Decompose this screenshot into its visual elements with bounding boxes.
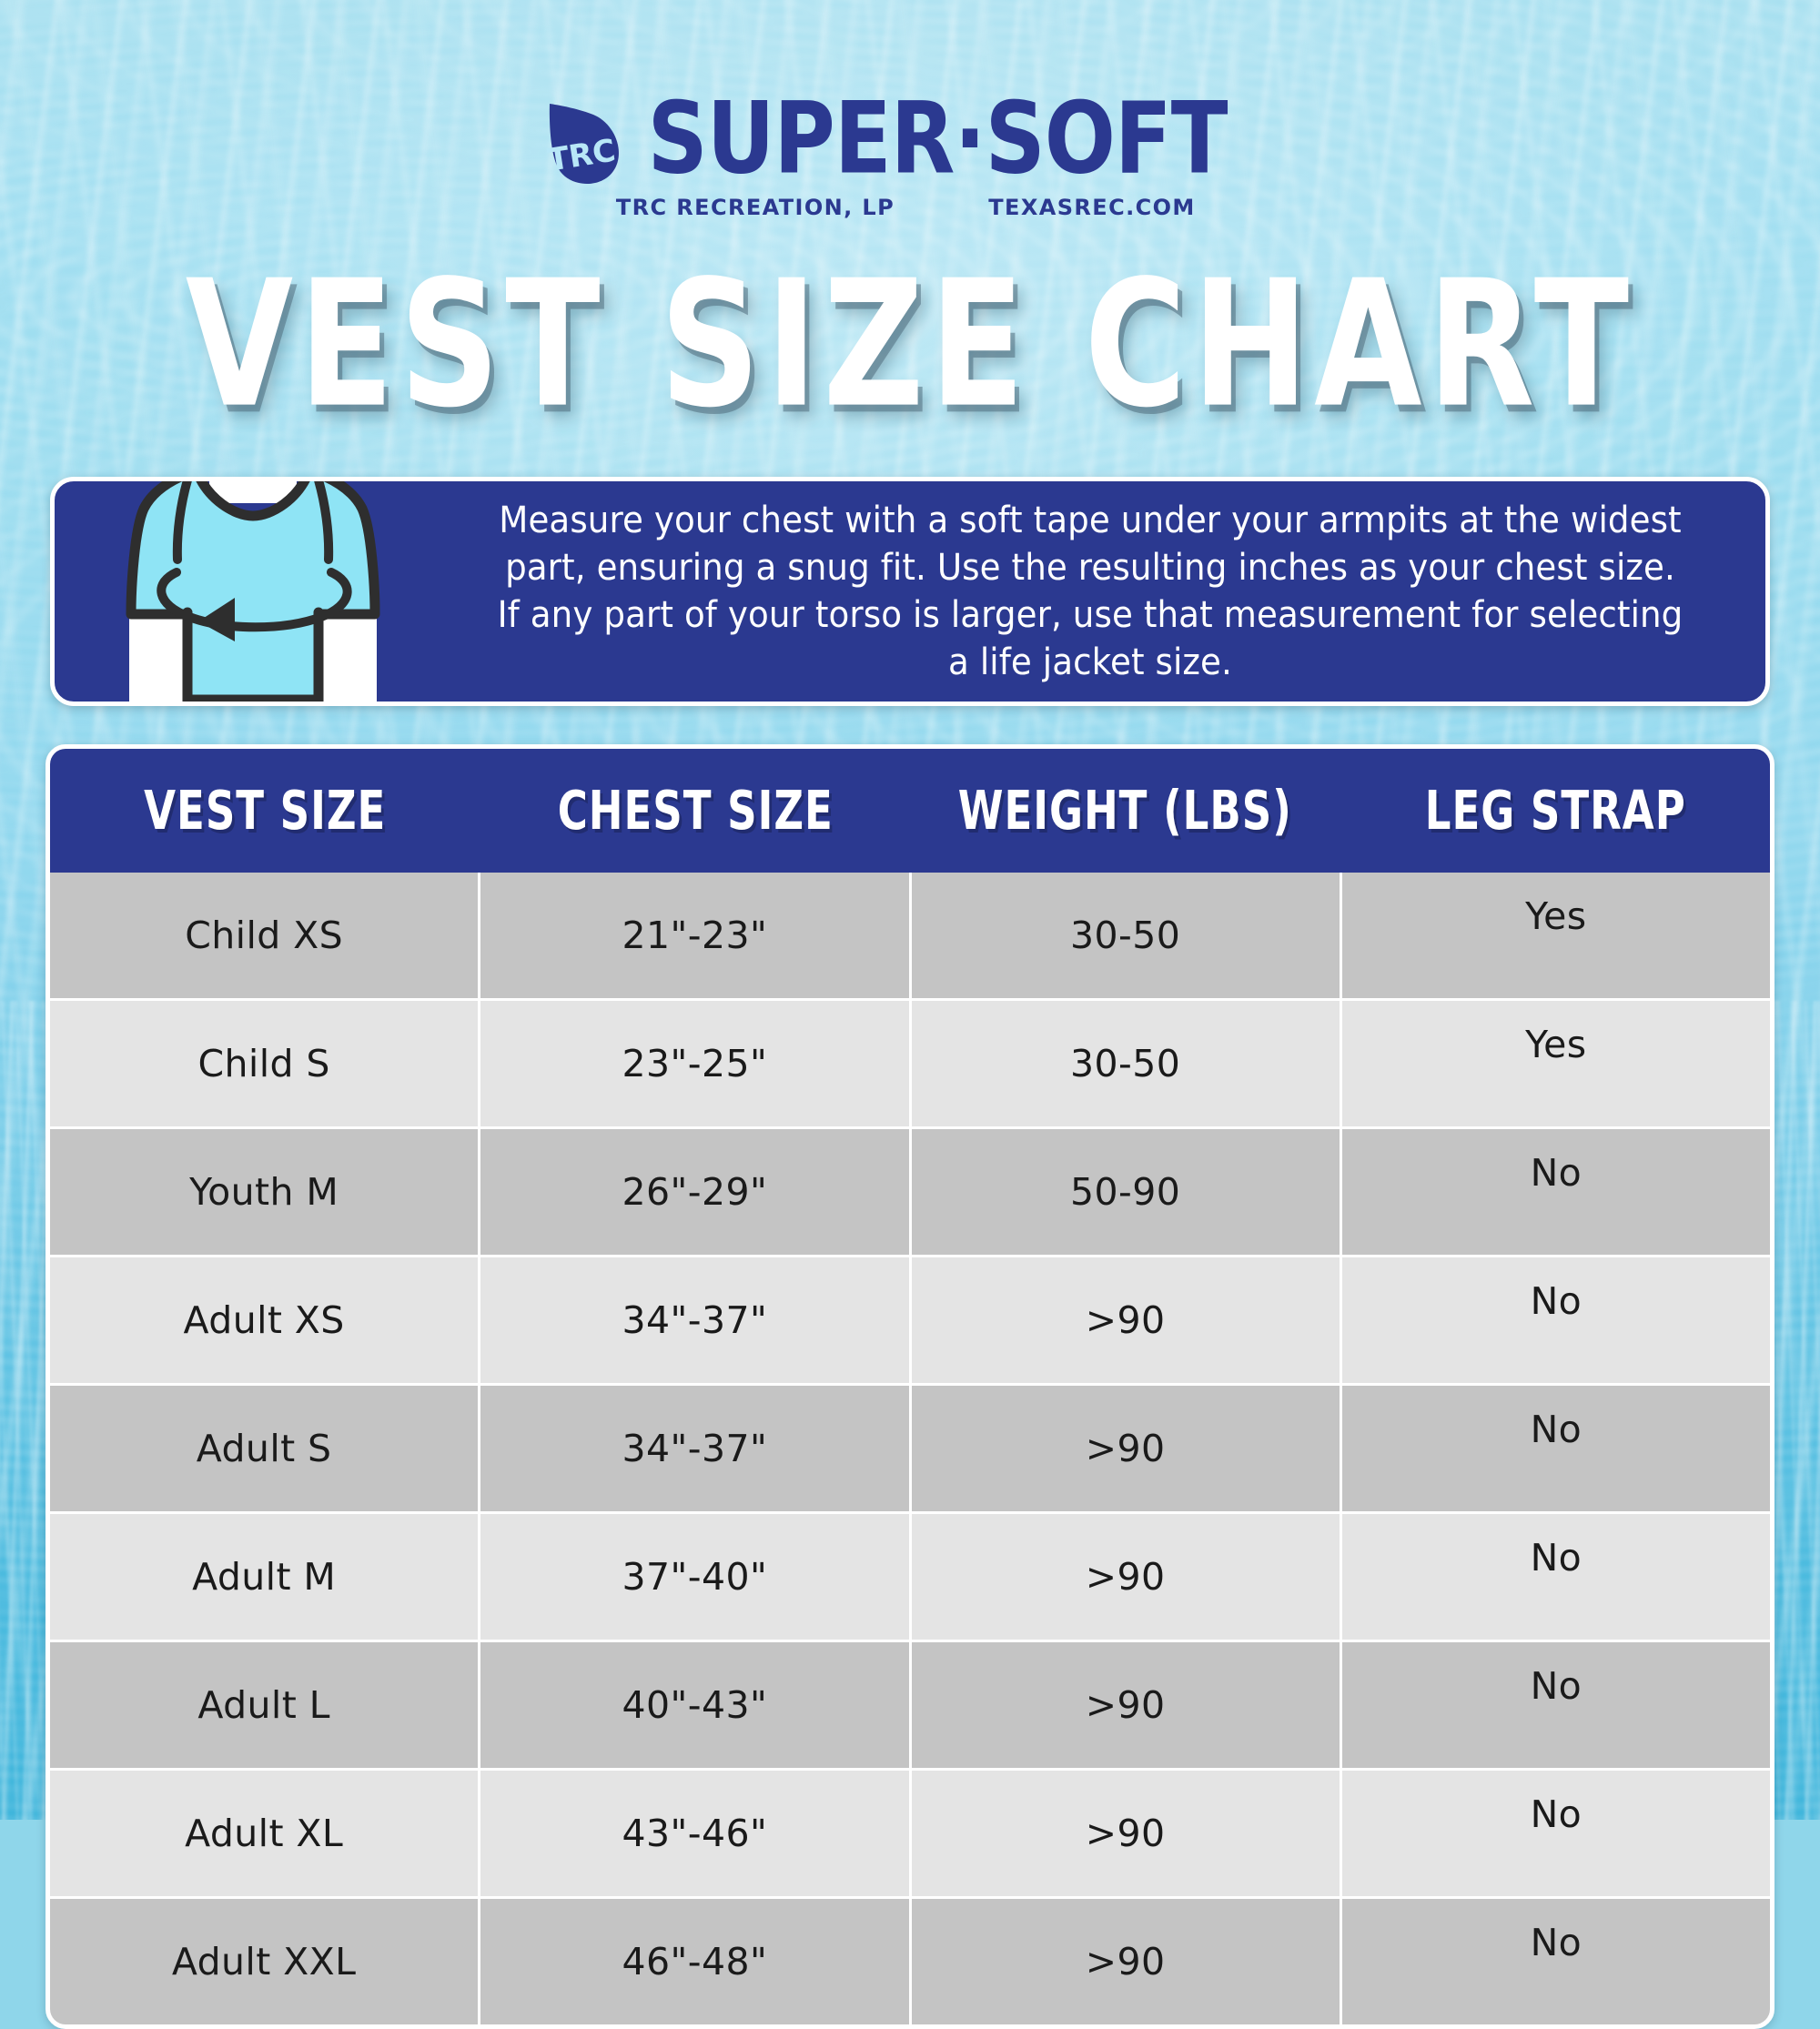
table-body: Child XS21"-23"30-50YesChild S23"-25"30-…	[50, 873, 1770, 2024]
instruction-panel: Measure your chest with a soft tape unde…	[50, 477, 1770, 706]
cell-chest-size: 23"-25"	[480, 1001, 911, 1126]
table-row: Adult XS34"-37">90No	[50, 1255, 1770, 1383]
table-row: Adult L40"-43">90No	[50, 1640, 1770, 1768]
cell-leg-strap: No	[1342, 1129, 1770, 1255]
cell-vest-size: Child S	[50, 1001, 480, 1126]
cell-weight: >90	[912, 1514, 1342, 1640]
column-header-leg-strap: LEG STRAP	[1349, 779, 1762, 842]
vest-size-table: VEST SIZE CHEST SIZE WEIGHT (LBS) LEG ST…	[45, 744, 1774, 2029]
cell-vest-size: Adult M	[50, 1514, 480, 1640]
column-header-vest-size: VEST SIZE	[58, 779, 471, 842]
torso-measuring-illustration	[55, 481, 446, 702]
cell-chest-size: 21"-23"	[480, 873, 911, 998]
cell-weight: >90	[912, 1771, 1342, 1896]
cell-vest-size: Adult XXL	[50, 1899, 480, 2024]
cell-weight: 30-50	[912, 1001, 1342, 1126]
cell-leg-strap: No	[1342, 1899, 1770, 2024]
table-row: Youth M26"-29"50-90No	[50, 1126, 1770, 1255]
table-row: Adult S34"-37">90No	[50, 1383, 1770, 1511]
table-header-row: VEST SIZE CHEST SIZE WEIGHT (LBS) LEG ST…	[50, 749, 1770, 873]
cell-weight: >90	[912, 1386, 1342, 1511]
instruction-text: Measure your chest with a soft tape unde…	[491, 497, 1690, 686]
table-row: Adult M37"-40">90No	[50, 1511, 1770, 1640]
column-header-weight-lbs: WEIGHT (LBS)	[918, 779, 1331, 842]
cell-chest-size: 37"-40"	[480, 1514, 911, 1640]
cell-chest-size: 43"-46"	[480, 1771, 911, 1896]
trc-droplet-icon: TRC	[545, 104, 619, 184]
cell-vest-size: Child XS	[50, 873, 480, 998]
cell-leg-strap: No	[1342, 1514, 1770, 1640]
cell-vest-size: Adult XL	[50, 1771, 480, 1896]
svg-text:SUPER·SOFT: SUPER·SOFT	[647, 98, 1228, 196]
cell-chest-size: 46"-48"	[480, 1899, 911, 2024]
cell-chest-size: 40"-43"	[480, 1642, 911, 1768]
table-row: Child XS21"-23"30-50Yes	[50, 873, 1770, 998]
cell-weight: 50-90	[912, 1129, 1342, 1255]
instruction-text-block: Measure your chest with a soft tape unde…	[446, 481, 1765, 702]
table-row: Adult XXL46"-48">90No	[50, 1896, 1770, 2024]
cell-weight: >90	[912, 1899, 1342, 2024]
cell-leg-strap: No	[1342, 1771, 1770, 1896]
torso-figure-svg	[89, 477, 417, 706]
cell-leg-strap: No	[1342, 1257, 1770, 1383]
table-row: Adult XL43"-46">90No	[50, 1768, 1770, 1896]
cell-leg-strap: Yes	[1342, 1001, 1770, 1126]
cell-vest-size: Adult L	[50, 1642, 480, 1768]
cell-vest-size: Youth M	[50, 1129, 480, 1255]
cell-chest-size: 34"-37"	[480, 1386, 911, 1511]
cell-vest-size: Adult XS	[50, 1257, 480, 1383]
cell-leg-strap: No	[1342, 1642, 1770, 1768]
cell-weight: >90	[912, 1257, 1342, 1383]
cell-vest-size: Adult S	[50, 1386, 480, 1511]
svg-text:TEXASREC.COM: TEXASREC.COM	[988, 195, 1195, 220]
super-soft-logo-svg: TRC SUPER·SOFT TRC RECREATION, LP TEXASR…	[537, 98, 1283, 230]
cell-leg-strap: No	[1342, 1386, 1770, 1511]
svg-text:TRC RECREATION, LP: TRC RECREATION, LP	[616, 195, 895, 220]
table-row: Child S23"-25"30-50Yes	[50, 998, 1770, 1126]
brand-logo: TRC SUPER·SOFT TRC RECREATION, LP TEXASR…	[0, 98, 1820, 230]
cell-chest-size: 26"-29"	[480, 1129, 911, 1255]
page-title: VEST SIZE CHART	[0, 244, 1820, 447]
cell-leg-strap: Yes	[1342, 873, 1770, 998]
cell-chest-size: 34"-37"	[480, 1257, 911, 1383]
column-header-chest-size: CHEST SIZE	[489, 779, 902, 842]
cell-weight: >90	[912, 1642, 1342, 1768]
cell-weight: 30-50	[912, 873, 1342, 998]
